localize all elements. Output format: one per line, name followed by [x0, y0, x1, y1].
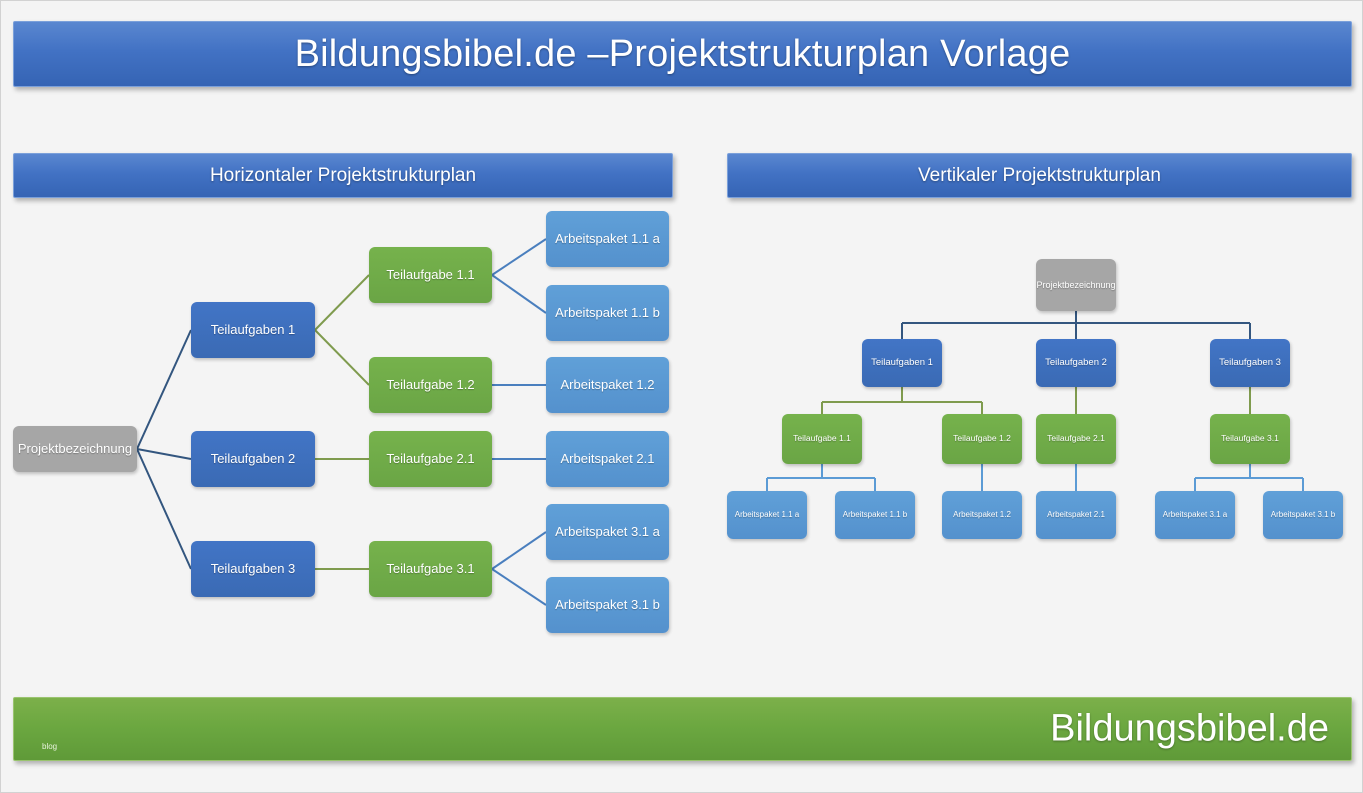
node-teilaufgaben-2[interactable]: Teilaufgaben 2 [191, 431, 315, 487]
slide-canvas: Bildungsbibel.de –Projektstrukturplan Vo… [0, 0, 1363, 793]
node-teilaufgaben-3[interactable]: Teilaufgaben 3 [191, 541, 315, 597]
footer-brand: Bildungsbibel.de [1050, 708, 1329, 751]
node-arbeitspaket-1-2[interactable]: Arbeitspaket 1.2 [942, 491, 1022, 539]
node-arbeitspaket-1-1-a[interactable]: Arbeitspaket 1.1 a [546, 211, 669, 267]
vertical-wbs-diagram: Projektbezeichnung Teilaufgaben 1 Teilau… [701, 198, 1363, 668]
node-arbeitspaket-1-1-a[interactable]: Arbeitspaket 1.1 a [727, 491, 807, 539]
node-root[interactable]: Projektbezeichnung [13, 426, 137, 472]
footer-banner: blog Bildungsbibel.de [13, 697, 1352, 761]
section-heading-horizontal: Horizontaler Projektstrukturplan [13, 153, 673, 198]
section-heading-vertical: Vertikaler Projektstrukturplan [727, 153, 1352, 198]
node-teilaufgabe-3-1[interactable]: Teilaufgabe 3.1 [369, 541, 492, 597]
node-teilaufgabe-1-2[interactable]: Teilaufgabe 1.2 [369, 357, 492, 413]
node-root[interactable]: Projektbezeichnung [1036, 259, 1116, 311]
node-teilaufgabe-1-1[interactable]: Teilaufgabe 1.1 [369, 247, 492, 303]
node-teilaufgaben-3[interactable]: Teilaufgaben 3 [1210, 339, 1290, 387]
node-arbeitspaket-1-2[interactable]: Arbeitspaket 1.2 [546, 357, 669, 413]
node-arbeitspaket-3-1-b[interactable]: Arbeitspaket 3.1 b [1263, 491, 1343, 539]
footer-blog-label[interactable]: blog [42, 742, 57, 751]
node-teilaufgabe-1-1[interactable]: Teilaufgabe 1.1 [782, 414, 862, 464]
node-arbeitspaket-2-1[interactable]: Arbeitspaket 2.1 [546, 431, 669, 487]
node-arbeitspaket-3-1-b[interactable]: Arbeitspaket 3.1 b [546, 577, 669, 633]
node-arbeitspaket-1-1-b[interactable]: Arbeitspaket 1.1 b [835, 491, 915, 539]
node-teilaufgabe-3-1[interactable]: Teilaufgabe 3.1 [1210, 414, 1290, 464]
node-teilaufgabe-2-1[interactable]: Teilaufgabe 2.1 [369, 431, 492, 487]
horizontal-wbs-diagram: Projektbezeichnung Teilaufgaben 1 Teilau… [1, 198, 701, 668]
page-title: Bildungsbibel.de –Projektstrukturplan Vo… [13, 21, 1352, 87]
node-teilaufgaben-2[interactable]: Teilaufgaben 2 [1036, 339, 1116, 387]
node-arbeitspaket-3-1-a[interactable]: Arbeitspaket 3.1 a [1155, 491, 1235, 539]
node-arbeitspaket-1-1-b[interactable]: Arbeitspaket 1.1 b [546, 285, 669, 341]
node-arbeitspaket-2-1[interactable]: Arbeitspaket 2.1 [1036, 491, 1116, 539]
node-teilaufgaben-1[interactable]: Teilaufgaben 1 [862, 339, 942, 387]
node-teilaufgaben-1[interactable]: Teilaufgaben 1 [191, 302, 315, 358]
node-arbeitspaket-3-1-a[interactable]: Arbeitspaket 3.1 a [546, 504, 669, 560]
node-teilaufgabe-2-1[interactable]: Teilaufgabe 2.1 [1036, 414, 1116, 464]
node-teilaufgabe-1-2[interactable]: Teilaufgabe 1.2 [942, 414, 1022, 464]
